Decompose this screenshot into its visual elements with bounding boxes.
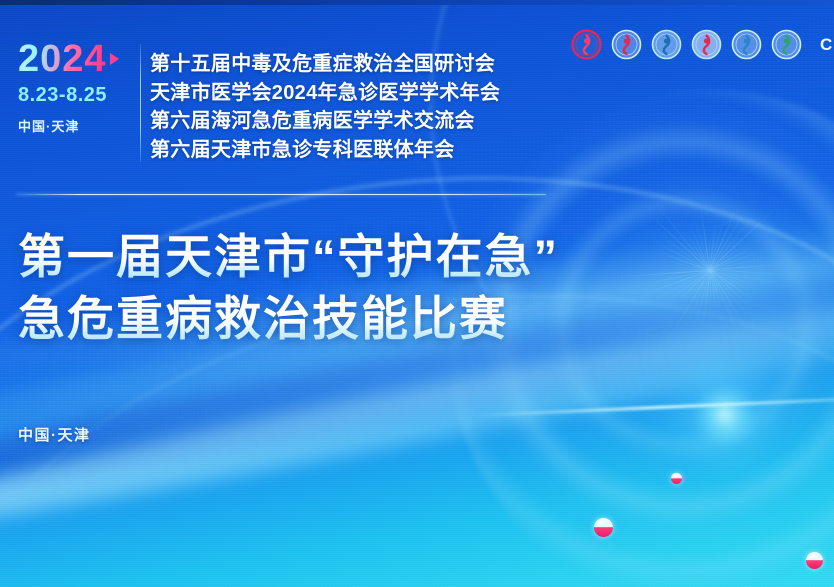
event-banner-poster: 2024 8.23-8.25 中国·天津 第十五届中毒及危重症救治全国研讨会天津… [0,0,834,587]
conference-name-list: 第十五届中毒及危重症救治全国研讨会天津市医学会2024年急诊医学学术年会第六届海… [150,50,500,164]
event-year: 2024 [18,40,107,78]
organizer-logo-row: COM [570,28,834,61]
arrow-right-icon [110,53,119,65]
main-title-line-2: 急危重病救治技能比赛 [18,288,559,350]
partner-brand-text: COM [820,35,834,55]
event-date-block: 2024 8.23-8.25 中国·天津 [18,40,136,133]
main-title-line-1: 第一届天津市“守护在急” [18,226,559,288]
logo-chinese-medical-association [570,28,603,61]
floating-sphere [806,552,823,569]
floating-sphere [671,473,682,484]
logo-emergency-medicine-society [610,28,643,61]
event-date-range: 8.23-8.25 [18,85,136,105]
logo-haihe-academic-exchange [730,28,763,61]
header-horizontal-divider [16,194,546,195]
floating-sphere [594,518,613,537]
logo-tianjin-medical-association [690,28,723,61]
banner-header: 2024 8.23-8.25 中国·天津 第十五届中毒及危重症救治全国研讨会天津… [0,0,560,180]
conference-name-line: 第六届海河急危重病医学学术交流会 [150,107,500,136]
footer-city-label: 中国·天津 [18,424,91,445]
main-title: 第一届天津市“守护在急” 急危重病救治技能比赛 [18,226,559,350]
header-vertical-divider [140,44,141,162]
event-city-label: 中国·天津 [18,120,136,133]
logo-critical-care-society [650,28,683,61]
conference-name-line: 天津市医学会2024年急诊医学学术年会 [150,79,500,108]
conference-name-line: 第十五届中毒及危重症救治全国研讨会 [150,50,500,79]
conference-name-line: 第六届天津市急诊专科医联体年会 [150,136,500,165]
logo-specialty-medical-alliance [770,28,803,61]
